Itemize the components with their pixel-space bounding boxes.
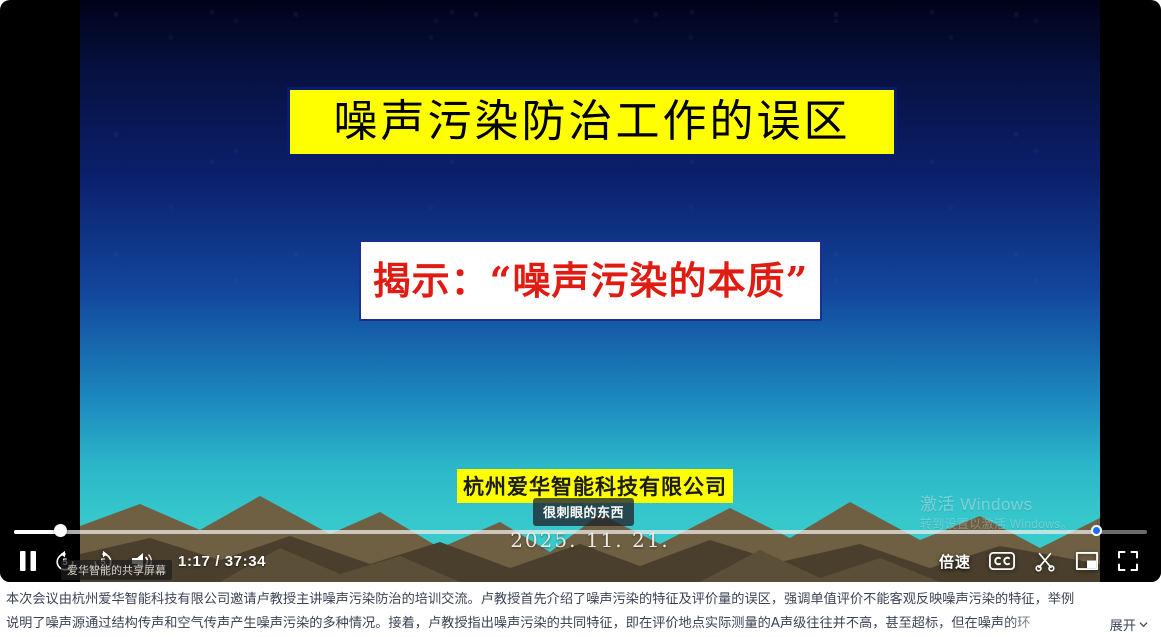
scissors-icon (1033, 550, 1057, 572)
slide-subtitle: 揭示：“噪声污染的本质” (373, 262, 809, 300)
time-display: 1:17 / 37:34 (178, 553, 266, 570)
fullscreen-button[interactable] (1117, 550, 1139, 572)
video-player[interactable]: 噪声污染防治工作的误区 揭示：“噪声污染的本质” 杭州爱华智能科技有限公司 20… (0, 0, 1161, 582)
control-row: 5 5 1:1 (0, 540, 1161, 582)
picture-in-picture-icon (1075, 551, 1099, 571)
chapter-marker-dot[interactable] (1091, 525, 1102, 536)
playback-speed-button[interactable]: 倍速 (939, 551, 971, 572)
progress-buffered (14, 530, 1096, 534)
slide-title-box: 噪声污染防治工作的误区 (287, 87, 897, 157)
control-right-group: 倍速 (939, 550, 1161, 572)
share-screen-tooltip: 爱华智能的共享屏幕 (61, 560, 172, 580)
video-description: 本次会议由杭州爱华智能科技有限公司邀请卢教授主讲噪声污染防治的培训交流。卢教授首… (0, 588, 1161, 637)
video-stage[interactable]: 噪声污染防治工作的误区 揭示：“噪声污染的本质” 杭州爱华智能科技有限公司 20… (80, 0, 1100, 582)
cc-icon (989, 552, 1015, 570)
player-controls[interactable]: 5 5 1:1 (0, 520, 1161, 582)
description-line-2: 说明了噪声源通过结构传声和空气传声产生噪声污染的多种情况。接着，卢教授指出噪声污… (6, 612, 1155, 636)
progress-tail (1096, 530, 1147, 534)
description-line-1: 本次会议由杭州爱华智能科技有限公司邀请卢教授主讲噪声污染防治的培训交流。卢教授首… (6, 588, 1155, 612)
expand-label: 展开 (1110, 615, 1136, 634)
description-line-2-wrapper: 说明了噪声源通过结构传声和空气传声产生噪声污染的多种情况。接着，卢教授指出噪声污… (6, 612, 1155, 636)
expand-description-button[interactable]: 展开 (1104, 612, 1149, 636)
watermark-title: 激活 Windows (920, 494, 1100, 516)
captions-button[interactable] (989, 552, 1015, 570)
pause-button[interactable] (18, 550, 38, 572)
pause-icon (18, 550, 38, 572)
presentation-slide: 噪声污染防治工作的误区 揭示：“噪声污染的本质” 杭州爱华智能科技有限公司 20… (80, 0, 1100, 582)
slide-subtitle-box: 揭示：“噪声污染的本质” (359, 240, 822, 321)
slide-company-name: 杭州爱华智能科技有限公司 (463, 476, 727, 497)
progress-bar[interactable] (14, 524, 1147, 538)
chevron-down-icon (1138, 619, 1149, 630)
slide-title: 噪声污染防治工作的误区 (334, 100, 851, 144)
fullscreen-icon (1117, 550, 1139, 572)
progress-scrubber-handle[interactable] (54, 524, 67, 537)
picture-in-picture-button[interactable] (1075, 551, 1099, 571)
clip-button[interactable] (1033, 550, 1057, 572)
